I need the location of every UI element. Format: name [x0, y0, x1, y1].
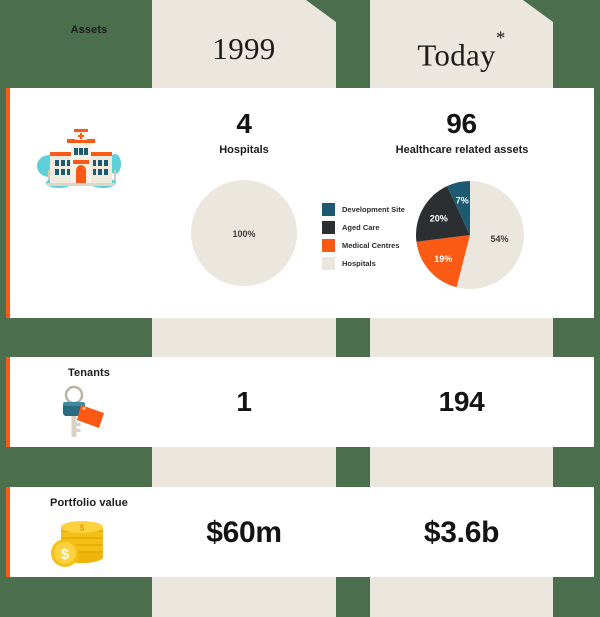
infographic-canvas: 1999 Today* Assets: [0, 0, 600, 617]
assets-1999-caption: Hospitals: [152, 144, 336, 156]
assets-today-caption: Healthcare related assets: [366, 144, 558, 156]
column-header-today: Today*: [370, 27, 553, 71]
column-header-1999: 1999: [152, 27, 336, 71]
legend-item-development-site: Development Site: [322, 200, 405, 218]
portfolio-today-value: $3.6b: [370, 516, 553, 550]
column-header-today-asterisk: *: [496, 28, 506, 49]
column-notch-today: [523, 0, 553, 22]
assets-chart-legend: Development Site Aged Care Medical Centr…: [322, 200, 405, 272]
assets-today-pie: 54%19%20%7%: [414, 179, 526, 291]
legend-label-medical-centres: Medical Centres: [342, 241, 400, 250]
legend-item-aged-care: Aged Care: [322, 218, 405, 236]
row-title-portfolio: Portfolio value: [26, 497, 152, 509]
legend-swatch-medical-centres: [322, 239, 335, 252]
legend-swatch-development-site: [322, 203, 335, 216]
assets-today-value: 96: [370, 108, 553, 140]
pie-label-medical-centres: 19%: [434, 254, 452, 264]
legend-swatch-hospitals: [322, 257, 335, 270]
legend-label-aged-care: Aged Care: [342, 223, 380, 232]
tenants-today-value: 194: [370, 386, 553, 418]
pie-label-hospitals: 54%: [490, 234, 508, 244]
coin-stack-icon: $ $: [48, 513, 116, 569]
legend-item-medical-centres: Medical Centres: [322, 236, 405, 254]
legend-label-hospitals: Hospitals: [342, 259, 376, 268]
assets-1999-pie-label: 100%: [191, 229, 297, 239]
column-header-1999-label: 1999: [212, 31, 275, 66]
svg-text:$: $: [80, 524, 85, 533]
column-notch-1999: [306, 0, 336, 22]
legend-label-development-site: Development Site: [342, 205, 405, 214]
portfolio-1999-value: $60m: [152, 516, 336, 550]
legend-item-hospitals: Hospitals: [322, 254, 405, 272]
assets-1999-value: 4: [152, 108, 336, 140]
row-title-tenants: Tenants: [26, 367, 152, 379]
legend-swatch-aged-care: [322, 221, 335, 234]
column-header-today-label: Today: [417, 37, 496, 72]
svg-text:$: $: [61, 546, 70, 563]
tenants-1999-value: 1: [152, 386, 336, 418]
pie-label-aged-care: 20%: [430, 213, 448, 223]
key-tag-icon: [55, 383, 111, 439]
pie-label-development-site: 7%: [456, 196, 469, 206]
row-title-assets: Assets: [26, 24, 152, 36]
hospital-building-icon: [33, 128, 129, 190]
